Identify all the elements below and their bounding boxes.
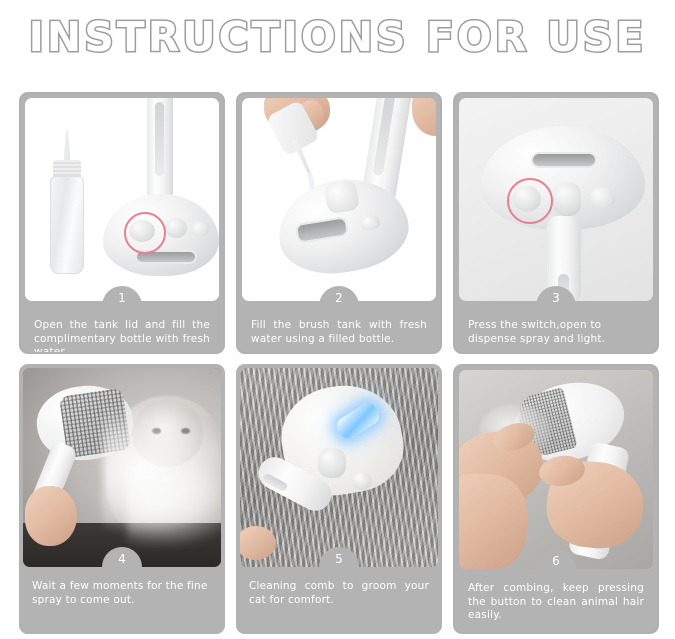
- scene-bottle-and-device: [25, 98, 219, 301]
- step-image-5: [240, 368, 438, 567]
- scene-spray-on-cat: [23, 368, 221, 567]
- step-panel-6: 6 After combing, keep pressing the butto…: [453, 364, 659, 634]
- step-caption-3: Press the switch,open to dispense spray …: [468, 319, 644, 346]
- step-caption-block-3: Press the switch,open to dispense spray …: [455, 306, 657, 352]
- step-caption-block-2: Fill the brush tank with fresh water usi…: [238, 306, 440, 352]
- step-image-4: [23, 368, 221, 567]
- center-knob-graphic: [553, 182, 581, 216]
- tank-window-graphic: [531, 152, 597, 168]
- secondary-button-graphic: [165, 218, 187, 238]
- steps-grid: 1 Open the tank lid and fill the complim…: [19, 92, 659, 634]
- page-header: INSTRUCTIONS FOR USE: [0, 6, 675, 68]
- scene-comb-on-fur: [240, 368, 438, 567]
- step-panel-5: 5 Cleaning comb to groom your cat for co…: [236, 364, 442, 634]
- step-panel-2: 2 Fill the brush tank with fresh water u…: [236, 92, 442, 354]
- step-panel-1: 1 Open the tank lid and fill the complim…: [19, 92, 225, 354]
- highlight-ring-3: [507, 178, 553, 224]
- step-number-1: 1: [118, 290, 126, 306]
- step-caption-block-4: Wait a few moments for the fine spray to…: [19, 567, 225, 634]
- hand-graphic: [25, 486, 77, 546]
- step-panel-4: 4 Wait a few moments for the fine spray …: [19, 364, 225, 634]
- step-caption-1: Open the tank lid and fill the complimen…: [34, 319, 210, 354]
- step-caption-2: Fill the brush tank with fresh water usi…: [251, 319, 427, 346]
- scene-clean-hair: [459, 370, 653, 569]
- center-knob-graphic: [318, 448, 346, 478]
- step-number-4: 4: [118, 551, 126, 567]
- step-caption-block-6: After combing, keep pressing the button …: [455, 569, 657, 632]
- forearm-graphic: [459, 474, 527, 569]
- step-image-2: [242, 98, 436, 301]
- hand-graphic-2: [412, 98, 436, 136]
- step-image-1: [25, 98, 219, 301]
- step-image-6: [459, 370, 653, 569]
- step-caption-block-1: Open the tank lid and fill the complimen…: [21, 306, 223, 352]
- scene-pouring-water: [242, 98, 436, 301]
- tertiary-button-graphic: [191, 222, 209, 236]
- water-bottle-graphic: [47, 134, 87, 274]
- step-image-3: [459, 98, 653, 301]
- page-title: INSTRUCTIONS FOR USE: [29, 13, 647, 61]
- tank-lid-graphic: [324, 180, 360, 215]
- step-caption-block-5: Cleaning comb to groom your cat for comf…: [236, 567, 442, 634]
- instructions-page: INSTRUCTIONS FOR USE: [0, 0, 675, 639]
- side-button-graphic: [589, 188, 615, 208]
- step-caption-5: Cleaning comb to groom your cat for comf…: [249, 580, 429, 607]
- step-caption-6: After combing, keep pressing the button …: [468, 582, 644, 623]
- highlight-ring-1: [124, 212, 166, 254]
- step-panel-3: 3 Press the switch,open to dispense spra…: [453, 92, 659, 354]
- step-caption-4: Wait a few moments for the fine spray to…: [32, 580, 212, 607]
- step-number-6: 6: [552, 553, 560, 569]
- step-number-3: 3: [552, 290, 560, 306]
- small-button-graphic: [352, 472, 372, 490]
- step-number-5: 5: [335, 551, 343, 567]
- scene-press-switch: [459, 98, 653, 301]
- step-number-2: 2: [335, 290, 343, 306]
